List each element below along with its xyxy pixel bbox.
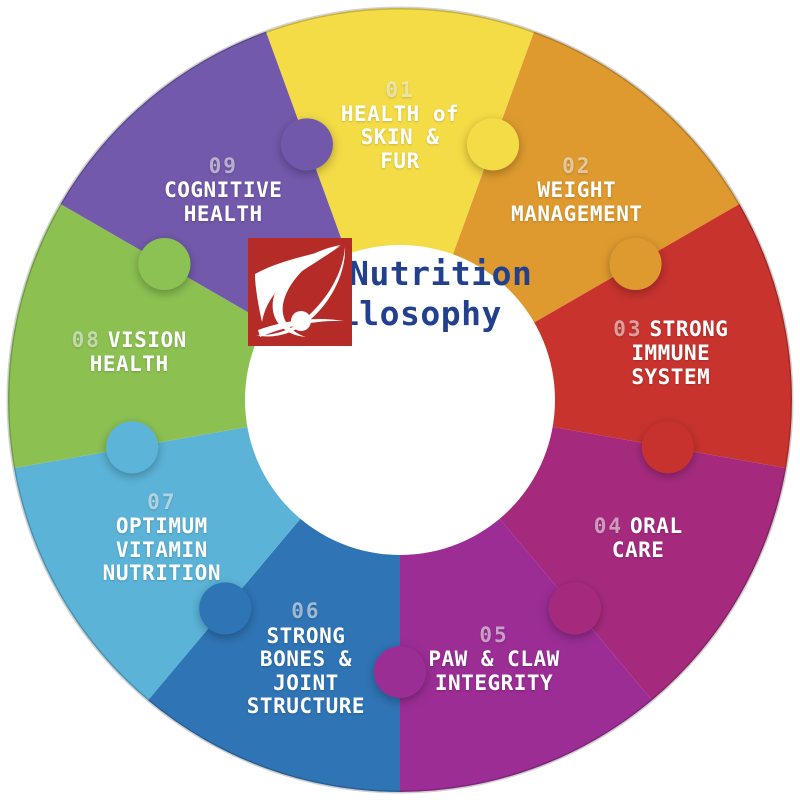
puzzle-knob-08 [138,238,190,290]
center-content: Our Nutrition Philosophy [248,238,552,542]
puzzle-knob-05 [374,646,426,698]
puzzle-knob-01 [467,118,519,170]
brand-comet-logo [248,238,352,346]
puzzle-knob-09 [281,118,333,170]
puzzle-knob-02 [610,238,662,290]
puzzle-knob-04 [549,582,601,634]
puzzle-knob-03 [642,421,694,473]
puzzle-knob-06 [199,582,251,634]
infographic-wheel: 01HEALTH of SKIN & FUR02WEIGHT MANAGEMEN… [0,0,800,800]
puzzle-knob-07 [106,421,158,473]
